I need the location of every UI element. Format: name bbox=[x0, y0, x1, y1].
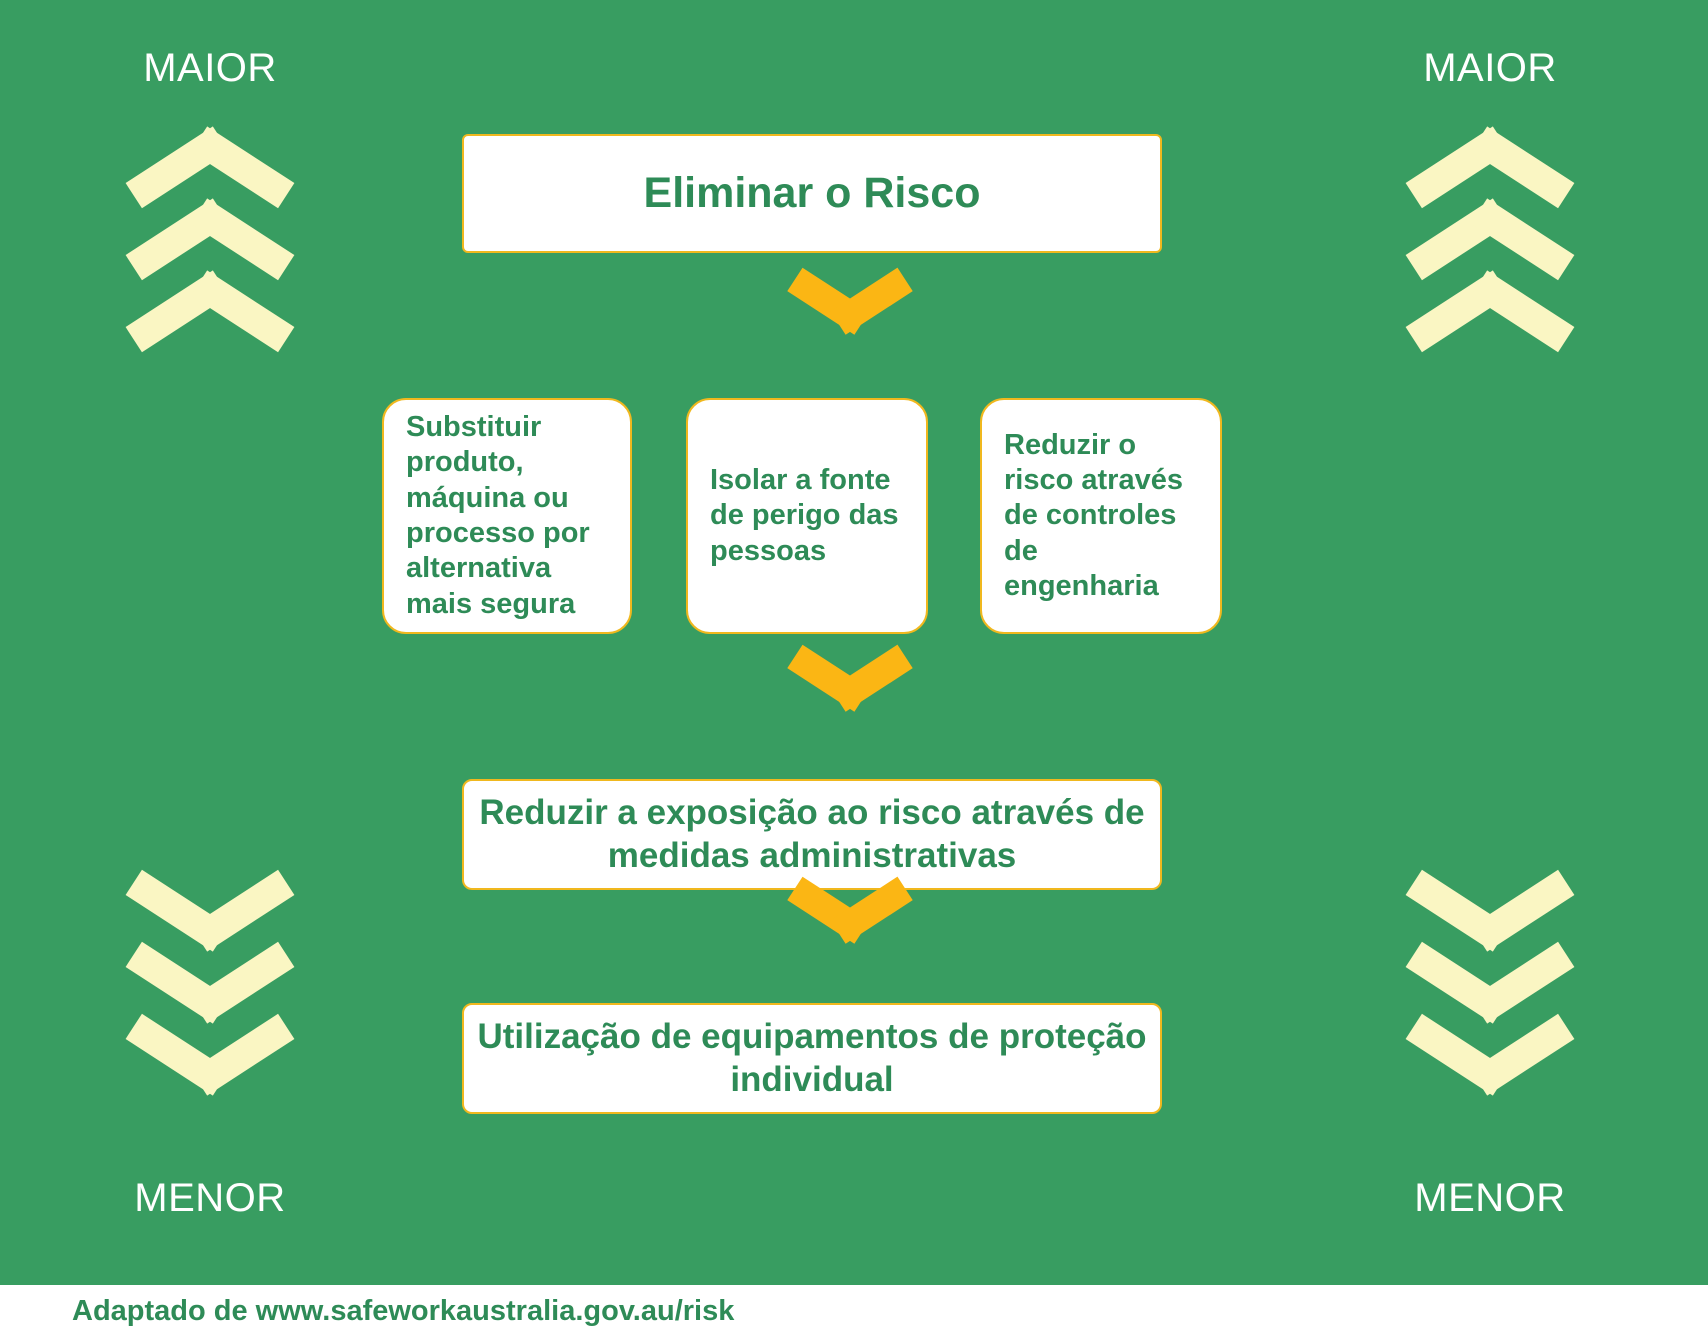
left-rail-top-label: MAIOR bbox=[60, 46, 360, 91]
chevron-down-icon bbox=[788, 303, 912, 357]
chevron-down-icon bbox=[1405, 1054, 1575, 1112]
source-credit: Adaptado de www.safeworkaustralia.gov.au… bbox=[72, 1295, 734, 1328]
chevron-down-icon bbox=[125, 1054, 295, 1112]
left-rail: MAIOR Nível de proteção de saúde e segur… bbox=[60, 0, 360, 1285]
level1-label: Eliminar o Risco bbox=[644, 167, 981, 219]
chevron-up-icon bbox=[125, 110, 295, 168]
left-down-chevron-stack bbox=[125, 910, 295, 1126]
level4-box-ppe: Utilização de equipamentos de proteção i… bbox=[462, 1003, 1162, 1114]
chevron-up-icon bbox=[125, 182, 295, 240]
level2-label-engineering: Reduzir o risco através de controles de … bbox=[1004, 428, 1198, 605]
level3-box-administrative: Reduzir a exposição ao risco através de … bbox=[462, 779, 1162, 890]
right-down-chevron-stack bbox=[1405, 910, 1575, 1126]
level2-box-substitution: Substituir produto, máquina ou processo … bbox=[382, 398, 632, 634]
chevron-up-icon bbox=[1405, 182, 1575, 240]
level3-label: Reduzir a exposição ao risco através de … bbox=[464, 792, 1160, 877]
footer-band: Adaptado de www.safeworkaustralia.gov.au… bbox=[0, 1285, 1708, 1337]
level2-label-substitution: Substituir produto, máquina ou processo … bbox=[406, 410, 608, 622]
level2-label-isolation: Isolar a fonte de perigo das pessoas bbox=[710, 463, 904, 569]
level1-box: Eliminar o Risco bbox=[462, 134, 1162, 253]
left-rail-bottom-label: MENOR bbox=[60, 1176, 360, 1221]
chevron-up-icon bbox=[1405, 110, 1575, 168]
right-rail-bottom-label: MENOR bbox=[1340, 1176, 1640, 1221]
right-rail-vertical-label: Confiabilidade das medidas de controle bbox=[1170, 275, 1708, 915]
chevron-down-icon bbox=[788, 912, 912, 966]
chevron-down-icon bbox=[788, 680, 912, 734]
right-rail: MAIOR Confiabilidade das medidas de cont… bbox=[1340, 0, 1640, 1285]
level2-box-isolation: Isolar a fonte de perigo das pessoas bbox=[686, 398, 928, 634]
level4-label: Utilização de equipamentos de proteção i… bbox=[464, 1016, 1160, 1101]
hierarchy-of-control-diagram: MAIOR Nível de proteção de saúde e segur… bbox=[0, 0, 1708, 1337]
right-rail-top-label: MAIOR bbox=[1340, 46, 1640, 91]
